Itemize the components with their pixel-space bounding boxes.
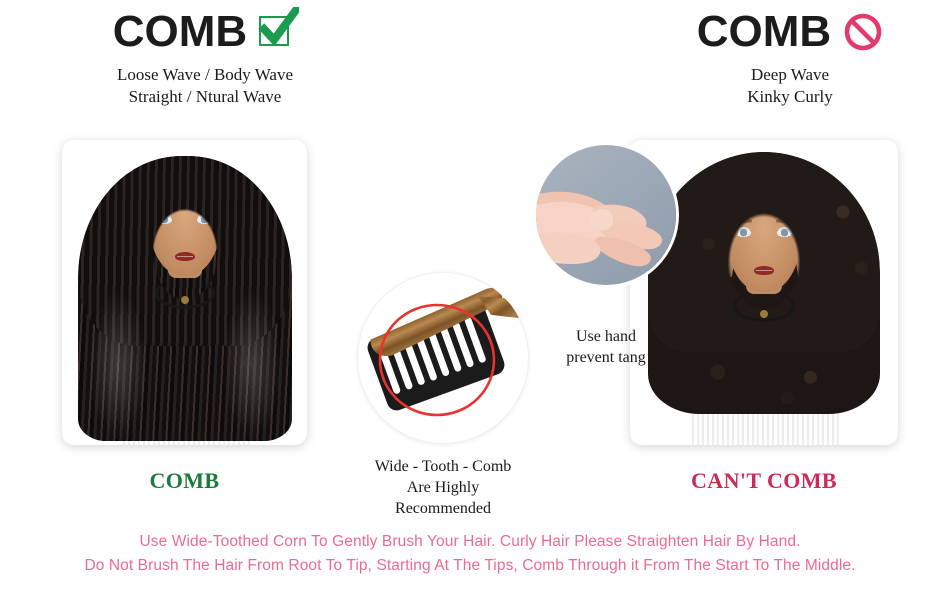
hand-caption-line2: prevent tang <box>533 347 679 368</box>
open-hand-icon <box>536 145 676 285</box>
hand-callout-image <box>536 145 676 285</box>
hand-caption-line1: Use hand <box>533 326 679 347</box>
hand-callout-caption: Use hand prevent tang <box>533 326 679 368</box>
right-subtitle-line1: Deep Wave <box>645 64 935 86</box>
left-card-label: COMB <box>62 468 307 494</box>
footer-note: Use Wide-Toothed Corn To Gently Brush Yo… <box>0 530 940 578</box>
infographic-canvas: COMB Loose Wave / Body Wave Straight / N… <box>0 0 940 600</box>
left-subtitle: Loose Wave / Body Wave Straight / Ntural… <box>60 64 350 108</box>
comb-caption-line1: Wide - Tooth - Comb <box>352 456 534 477</box>
left-subtitle-line2: Straight / Ntural Wave <box>60 86 350 108</box>
right-header: COMB Deep Wave Kinky Curly <box>645 6 935 108</box>
right-title-row: COMB <box>645 6 935 58</box>
green-check-icon <box>259 13 297 51</box>
straight-hair-photo-card <box>62 140 307 445</box>
footer-line1: Use Wide-Toothed Corn To Gently Brush Yo… <box>0 530 940 554</box>
wide-tooth-comb-icon <box>357 272 529 444</box>
left-title: COMB <box>113 10 247 54</box>
prohibition-icon <box>843 12 883 52</box>
right-subtitle-line2: Kinky Curly <box>645 86 935 108</box>
comb-callout-caption: Wide - Tooth - Comb Are Highly Recommend… <box>352 456 534 519</box>
left-header: COMB Loose Wave / Body Wave Straight / N… <box>60 6 350 108</box>
left-subtitle-line1: Loose Wave / Body Wave <box>60 64 350 86</box>
comb-caption-line2: Are Highly <box>352 477 534 498</box>
footer-line2: Do Not Brush The Hair From Root To Tip, … <box>0 554 940 578</box>
comb-callout-image <box>357 272 529 444</box>
comb-caption-line3: Recommended <box>352 498 534 519</box>
right-card-label: CAN'T COMB <box>630 468 898 494</box>
right-title: COMB <box>697 10 831 54</box>
straight-hair-image <box>62 140 307 445</box>
left-title-row: COMB <box>60 6 350 58</box>
right-subtitle: Deep Wave Kinky Curly <box>645 64 935 108</box>
